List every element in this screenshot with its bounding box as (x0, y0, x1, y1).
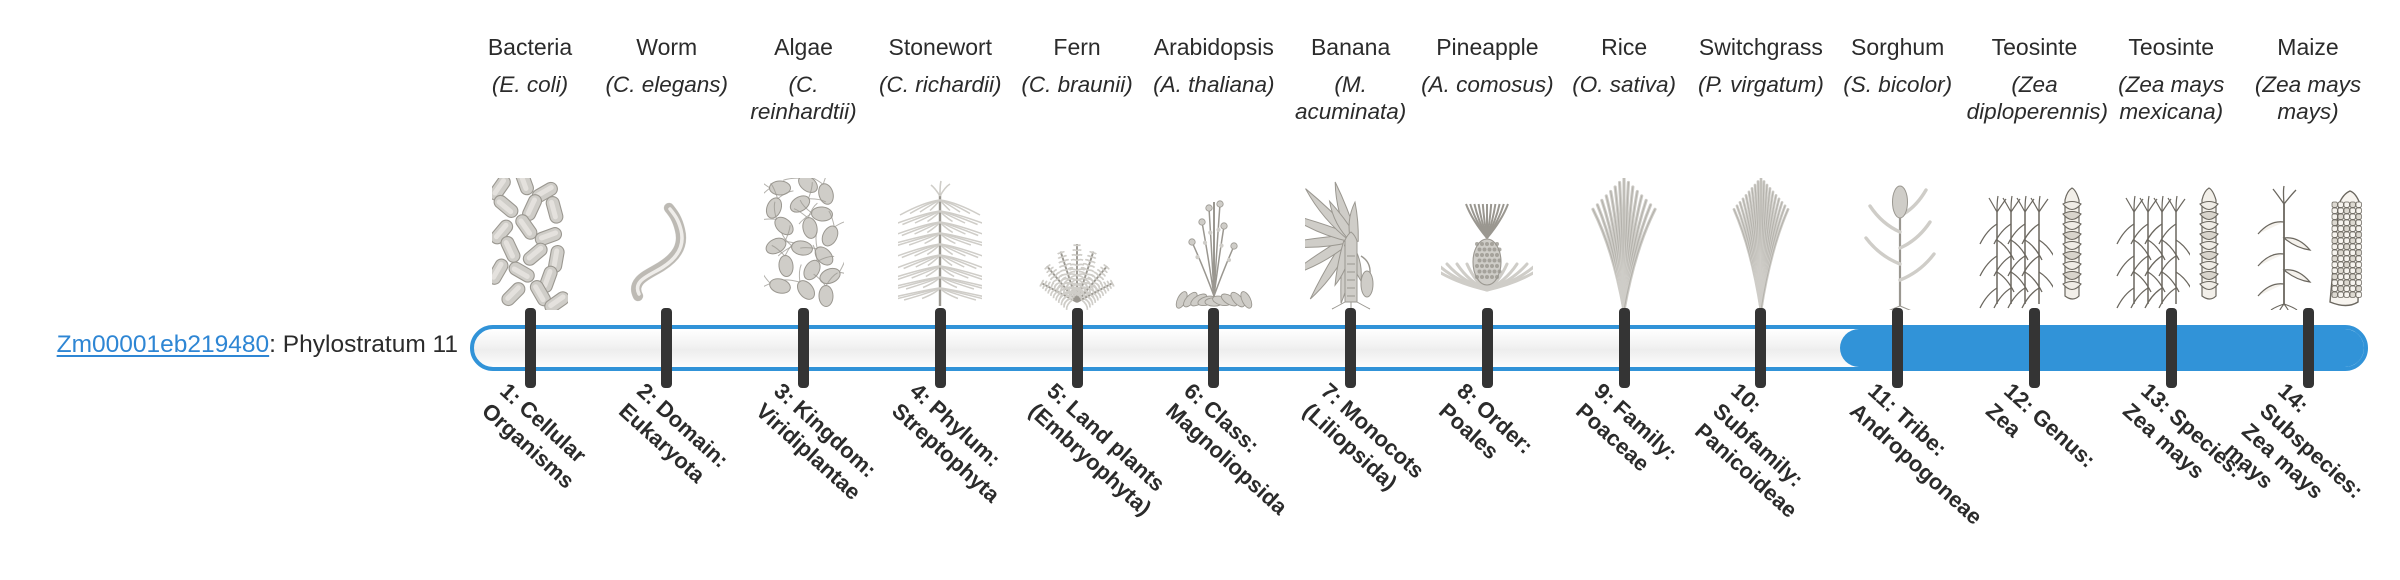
stonewort-icon (873, 168, 1009, 310)
species-latin-name: (C. elegans) (599, 72, 735, 99)
taxonomic-rank-label: 12: Genus: Zea (1981, 378, 2128, 518)
taxonomic-rank-text: Genus: Zea (1982, 398, 2101, 473)
taxonomic-rank-text: Class: Magnoliopsida (1161, 395, 1292, 519)
taxonomic-rank-label: 9: Family: Poaceae (1570, 378, 1717, 518)
phylostratum-tick[interactable] (1072, 308, 1083, 388)
species-common-name: Teosinte (1967, 34, 2103, 61)
bacteria-icon (462, 168, 598, 310)
species-latin-name: (Zea diploperennis) (1967, 72, 2103, 125)
species-latin-name: (Zea mays mexicana) (2103, 72, 2239, 125)
taxonomic-rank-text: Monocots (Liliopsida) (1298, 395, 1429, 495)
species-column: Banana(M. acuminata) (1283, 34, 1419, 125)
species-latin-name: (P. virgatum) (1693, 72, 1829, 99)
taxonomic-rank-row: 1: Cellular Organisms2: Domain: Eukaryot… (470, 378, 2380, 578)
species-common-name: Pineapple (1420, 34, 1556, 61)
species-common-name: Switchgrass (1693, 34, 1829, 61)
organism-illustration-row (470, 168, 2380, 310)
taxonomic-rank-label: 8: Order: Poales (1433, 378, 1580, 518)
taxonomic-rank-label: 14: Subspecies: Zea mays mays (2218, 378, 2400, 558)
phylostratum-bar-fill (1840, 329, 2368, 367)
phylostratum-tick[interactable] (2303, 308, 2314, 388)
taxonomic-rank-label: 1: Cellular Organisms (476, 378, 623, 518)
gene-label-separator: : (269, 331, 283, 358)
maize-icon (2240, 168, 2376, 310)
species-latin-name: (A. comosus) (1420, 72, 1556, 99)
species-latin-name: (C. reinhardtii) (736, 72, 872, 125)
taxonomic-rank-label: 2: Domain: Eukaryota (613, 378, 760, 518)
species-latin-name: (C. braunii) (1009, 72, 1145, 99)
species-column: Fern(C. braunii) (1009, 34, 1145, 99)
teosinte-diploperennis-icon (1967, 168, 2103, 310)
species-column: Algae(C. reinhardtii) (736, 34, 872, 125)
phylostratum-tick[interactable] (1892, 308, 1903, 388)
gene-id-link[interactable]: Zm00001eb219480 (57, 331, 270, 358)
phylostratum-bar[interactable] (470, 325, 2380, 371)
pineapple-icon (1420, 168, 1556, 310)
species-common-name: Fern (1009, 34, 1145, 61)
taxonomic-rank-text: Kingdom: Viridiplantae (751, 395, 881, 504)
taxonomic-rank-label: 7: Monocots (Liliopsida) (1297, 378, 1444, 518)
taxonomic-rank-text: Tribe: Andropogoneae (1845, 398, 1987, 529)
algae-icon (736, 168, 872, 310)
phylostratum-tick[interactable] (1208, 308, 1219, 388)
species-latin-name: (E. coli) (462, 72, 598, 99)
species-latin-name: (C. richardii) (873, 72, 1009, 99)
phylostratum-tick[interactable] (1755, 308, 1766, 388)
teosinte-mexicana-icon (2103, 168, 2239, 310)
worm-icon (599, 168, 735, 310)
species-common-name: Teosinte (2103, 34, 2239, 61)
species-common-name: Sorghum (1830, 34, 1966, 61)
banana-icon (1283, 168, 1419, 310)
species-column: Bacteria(E. coli) (462, 34, 598, 99)
species-latin-name: (O. sativa) (1556, 72, 1692, 99)
species-common-name: Worm (599, 34, 735, 61)
species-column: Sorghum(S. bicolor) (1830, 34, 1966, 99)
taxonomic-rank-text: Order: Poales (1435, 395, 1539, 464)
taxonomic-rank-text: Domain: Eukaryota (614, 395, 733, 488)
taxonomic-rank-label: 6: Class: Magnoliopsida (1160, 378, 1307, 518)
taxonomic-rank-label: 4: Phylum: Streptophyta (886, 378, 1033, 518)
taxonomic-rank-text: Species: Zea mays (2119, 398, 2249, 484)
species-latin-name: (S. bicolor) (1830, 72, 1966, 99)
species-column: Rice(O. sativa) (1556, 34, 1692, 99)
species-common-name: Banana (1283, 34, 1419, 61)
phylostratum-tick[interactable] (525, 308, 536, 388)
phylostratum-tick[interactable] (1482, 308, 1493, 388)
species-common-name: Stonewort (873, 34, 1009, 61)
species-common-name: Arabidopsis (1146, 34, 1282, 61)
phylostratum-tick[interactable] (2029, 308, 2040, 388)
species-column: Maize(Zea mays mays) (2240, 34, 2376, 125)
species-column: Switchgrass(P. virgatum) (1693, 34, 1829, 99)
rice-icon (1556, 168, 1692, 310)
fern-icon (1009, 168, 1145, 310)
taxonomic-rank-label: 5: Land plants (Embryophyta) (1023, 378, 1170, 518)
taxonomic-rank-text: Phylum: Streptophyta (888, 395, 1006, 507)
taxonomic-rank-label: 11: Tribe: Andropogoneae (1844, 378, 1991, 518)
phylostratum-text: Phylostratum 11 (283, 331, 458, 358)
sorghum-icon (1830, 168, 1966, 310)
taxonomic-rank-text: Cellular Organisms (477, 395, 591, 493)
phylostratigraphy-figure: Zm00001eb219480: Phylostratum 11 Bacteri… (0, 0, 2400, 580)
species-common-name: Algae (736, 34, 872, 61)
switchgrass-icon (1693, 168, 1829, 310)
taxonomic-rank-text: Family: Poaceae (1571, 395, 1682, 476)
phylostratum-tick[interactable] (935, 308, 946, 388)
phylostratum-tick[interactable] (1345, 308, 1356, 388)
taxonomic-rank-label: 10: Subfamily: Panicoideae (1689, 378, 1854, 538)
taxonomic-rank-text: Land plants (Embryophyta) (1024, 395, 1170, 520)
species-common-name: Rice (1556, 34, 1692, 61)
species-column: Worm(C. elegans) (599, 34, 735, 99)
gene-phylostratum-label: Zm00001eb219480: Phylostratum 11 (0, 332, 458, 359)
species-latin-name: (A. thaliana) (1146, 72, 1282, 99)
phylostratum-bar-track (470, 325, 2368, 371)
phylostratum-tick[interactable] (798, 308, 809, 388)
species-column: Stonewort(C. richardii) (873, 34, 1009, 99)
species-latin-name: (Zea mays mays) (2240, 72, 2376, 125)
phylostratum-tick[interactable] (1619, 308, 1630, 388)
species-column: Teosinte(Zea diploperennis) (1967, 34, 2103, 125)
species-column: Teosinte(Zea mays mexicana) (2103, 34, 2239, 125)
phylostratum-tick[interactable] (661, 308, 672, 388)
species-column: Pineapple(A. comosus) (1420, 34, 1556, 99)
species-common-name: Maize (2240, 34, 2376, 61)
taxonomic-rank-label: 3: Kingdom: Viridiplantae (750, 378, 897, 518)
species-latin-name: (M. acuminata) (1283, 72, 1419, 125)
arabidopsis-icon (1146, 168, 1282, 310)
species-column: Arabidopsis(A. thaliana) (1146, 34, 1282, 99)
species-common-name: Bacteria (462, 34, 598, 61)
phylostratum-tick[interactable] (2166, 308, 2177, 388)
